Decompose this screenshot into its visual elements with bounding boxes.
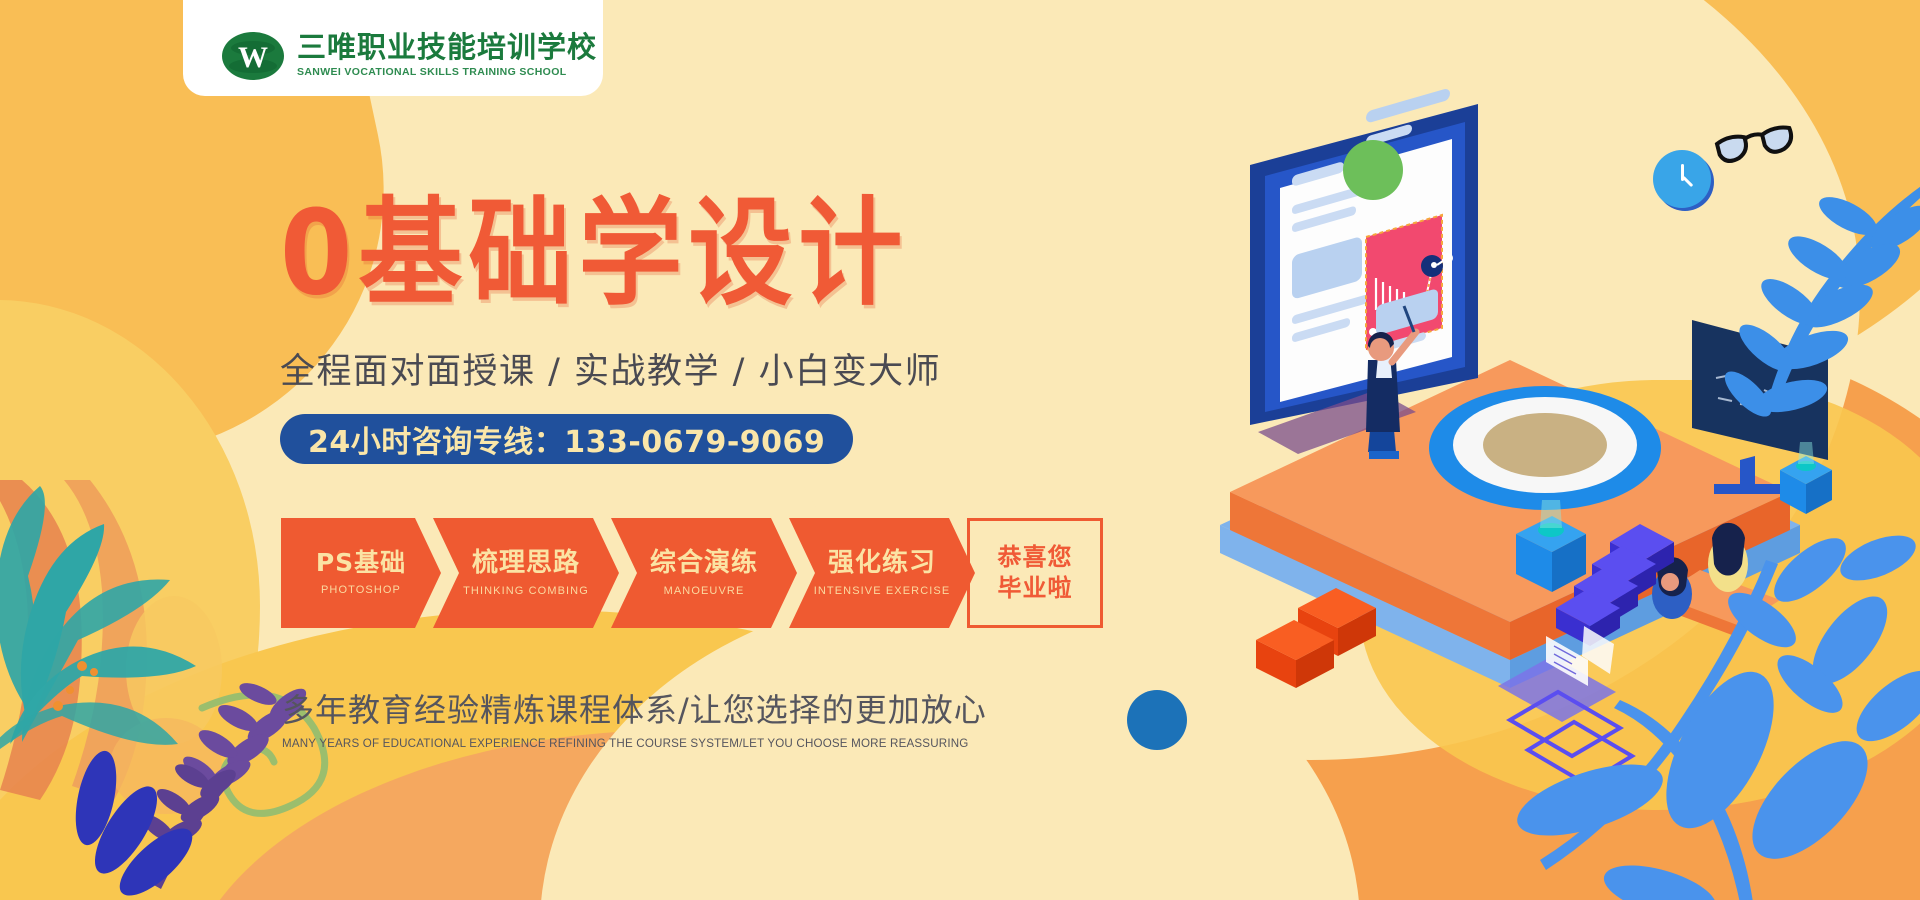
brand-name-en: SANWEI VOCATIONAL SKILLS TRAINING SCHOOL [297, 65, 597, 80]
step-item-4[interactable]: 强化练习 INTENSIVE EXERCISE [789, 518, 975, 628]
step-label-en: MANOEUVRE [664, 585, 745, 597]
step-label-cn: 强化练习 [828, 550, 936, 576]
eyeglasses-icon [1712, 118, 1804, 168]
tagline-cn: 多年教育经验精炼课程体系/让您选择的更加放心 [282, 685, 1102, 731]
tagline-en: MANY YEARS OF EDUCATIONAL EXPERIENCE REF… [282, 737, 1102, 750]
step-label-cn: 综合演练 [650, 550, 758, 576]
footer-tagline: 多年教育经验精炼课程体系/让您选择的更加放心 MANY YEARS OF EDU… [282, 685, 1102, 750]
graduation-line-2: 毕业啦 [998, 573, 1073, 604]
step-label-cn: PS基础 [316, 550, 406, 575]
step-item-1[interactable]: PS基础 PHOTOSHOP [281, 518, 441, 628]
step-item-2[interactable]: 梳理思路 THINKING COMBING [433, 518, 619, 628]
blue-leaf-branch-bottom-right-icon [1510, 500, 1920, 900]
step-label-en: THINKING COMBING [463, 585, 589, 597]
step-label-en: INTENSIVE EXERCISE [814, 585, 951, 597]
step-label-cn: 梳理思路 [472, 550, 580, 576]
brand-logo-card[interactable]: W 三唯职业技能培训学校 SANWEI VOCATIONAL SKILLS TR… [183, 0, 603, 96]
oval-w-monogram-icon: W [221, 30, 285, 82]
step-label-en: PHOTOSHOP [321, 584, 401, 596]
graduation-line-1: 恭喜您 [998, 542, 1073, 573]
course-steps-flow: PS基础 PHOTOSHOP 梳理思路 THINKING COMBING 综合演… [281, 518, 1161, 628]
hero-copy-block: 0基础学设计 全程面对面授课 / 实战教学 / 小白变大师 24小时咨询专线：1… [280, 195, 1180, 464]
step-item-3[interactable]: 综合演练 MANOEUVRE [611, 518, 797, 628]
orange-step-blocks-icon [1256, 588, 1376, 688]
hero-subtitle: 全程面对面授课 / 实战教学 / 小白变大师 [280, 343, 1180, 394]
svg-text:W: W [238, 41, 268, 74]
brand-name-cn: 三唯职业技能培训学校 [297, 32, 597, 62]
blue-leaf-branch-top-right-icon [1600, 170, 1920, 470]
consultation-hotline-button[interactable]: 24小时咨询专线：133-0679-9069 [280, 414, 853, 464]
green-circle-dot [1343, 140, 1403, 200]
page-title: 0基础学设计 [280, 195, 1180, 311]
promo-banner: W 三唯职业技能培训学校 SANWEI VOCATIONAL SKILLS TR… [0, 0, 1920, 900]
graduation-badge: 恭喜您 毕业啦 [967, 518, 1103, 628]
blue-circle-dot [1127, 690, 1187, 750]
